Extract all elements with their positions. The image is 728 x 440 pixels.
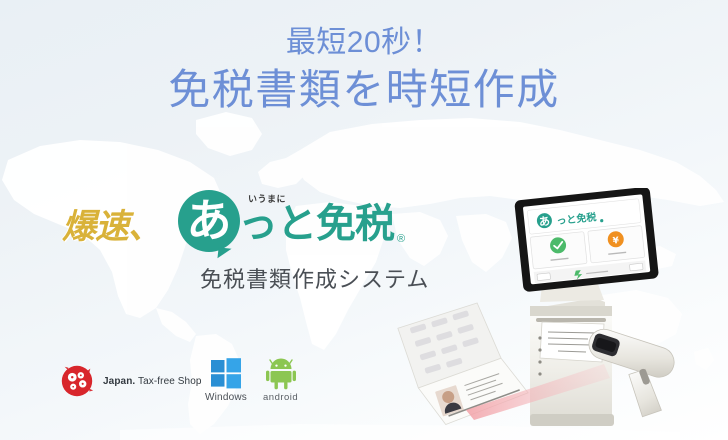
logo-speech-bubble-icon: あ bbox=[178, 190, 240, 252]
logo-subtitle: 免税書類作成システム bbox=[200, 262, 429, 294]
japan-tax-free-shop-badge: Japan. Tax-free Shop bbox=[58, 362, 202, 400]
logo-bubble-char: あ bbox=[178, 190, 240, 252]
svg-text:あ: あ bbox=[538, 215, 550, 229]
logo-tail-text: っと免税 bbox=[238, 204, 394, 244]
android-icon bbox=[266, 356, 296, 390]
japan-tax-free-shop-mark-icon bbox=[58, 362, 96, 400]
logo-bakusoku-text: 爆速、 bbox=[62, 199, 161, 248]
receipt-printer bbox=[530, 298, 614, 426]
japan-brand-text: Japan. bbox=[103, 376, 135, 387]
registered-trademark-icon: ® bbox=[397, 234, 405, 245]
tax-free-shop-text: Tax-free Shop bbox=[138, 376, 202, 387]
japan-tax-free-shop-label: Japan. Tax-free Shop bbox=[103, 376, 202, 387]
tablet-device: あ っと免税 ¥ bbox=[514, 188, 659, 292]
platform-label-android: android bbox=[263, 392, 298, 403]
headline-kicker: 最短20秒！ bbox=[0, 26, 728, 60]
brand-logo: 爆速、 あ いうまに っと免税 ® bbox=[60, 186, 420, 258]
platform-label-windows: Windows bbox=[205, 392, 247, 403]
page-title: 免税書類を時短作成 bbox=[0, 66, 728, 115]
platform-badge-android: android bbox=[263, 356, 298, 403]
open-passport bbox=[396, 298, 531, 430]
platform-badge-windows: Windows bbox=[205, 356, 247, 403]
windows-icon bbox=[209, 356, 243, 390]
headline-block: 最短20秒！ 免税書類を時短作成 bbox=[0, 26, 728, 114]
device-photo-cluster: あ っと免税 ¥ bbox=[390, 188, 728, 440]
hero-banner: 最短20秒！ 免税書類を時短作成 爆速、 あ いうまに っと免税 ® 免税書類作… bbox=[0, 0, 728, 440]
